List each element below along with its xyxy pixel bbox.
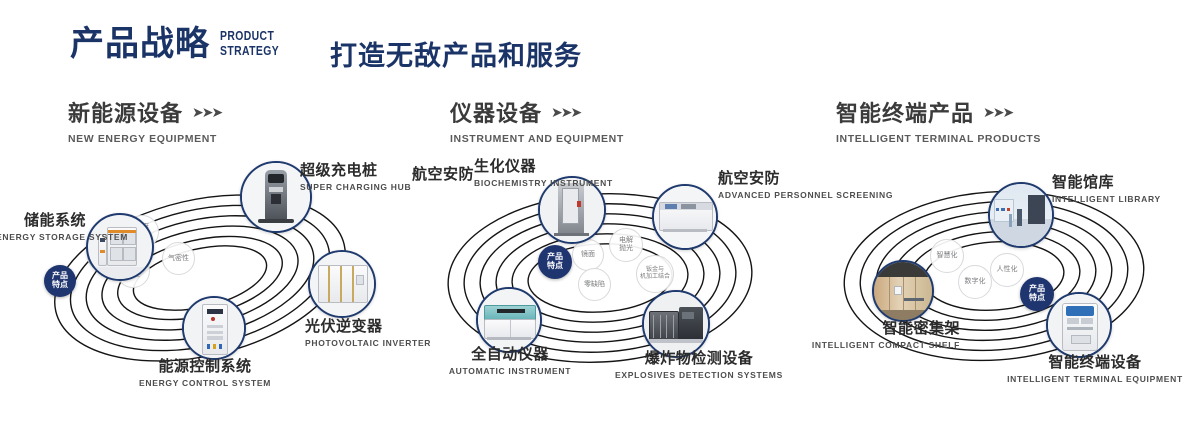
caption-cn: 全自动仪器 <box>430 346 590 364</box>
page-title: 产品战略 PRODUCT STRATEGY <box>70 24 294 64</box>
caption-cn: 爆炸物检测设备 <box>594 350 804 368</box>
feature-label-line2: 抛光 <box>619 245 633 252</box>
feature-bubble-sheetmetal-machining: 钣金与机加工结合 <box>636 255 674 293</box>
feature-label-line1: 钣金与 <box>646 267 664 273</box>
diagram-instrument: 产品特点 镜面 电解抛光 零缺陷 钣金与机加工结合 航 <box>400 150 800 410</box>
feature-bubble-digital: 数字化 <box>958 265 992 299</box>
feature-label: 智慧化 <box>935 252 960 260</box>
caption-en: INTELLIGENT COMPACT SHELF <box>800 340 960 351</box>
chevron-right-icon: ➤➤➤ <box>983 105 1012 119</box>
caption-en: EXPLOSIVES DETECTION SYSTEMS <box>594 370 804 381</box>
page-title-en: PRODUCT STRATEGY <box>220 28 279 58</box>
caption-intelligent-terminal-equipment: 智能终端设备 INTELLIGENT TERMINAL EQUIPMENT <box>990 354 1200 385</box>
caption-intelligent-compact-shelf: 智能密集架 INTELLIGENT COMPACT SHELF <box>800 320 960 351</box>
diagram-intelligent-terminal: 智慧化 数字化 人性化 产品特点 智能馆库 <box>800 150 1200 410</box>
center-bubble-line1: 产品 <box>1029 284 1045 293</box>
caption-energy-control-system: 能源控制系统 ENERGY CONTROL SYSTEM <box>85 358 325 389</box>
caption-cn: 智能密集架 <box>800 320 960 338</box>
feature-label: 镜面 <box>579 251 597 259</box>
node-advanced-personnel-screening[interactable] <box>652 184 718 250</box>
feature-label: 数字化 <box>963 278 988 286</box>
caption-aviation-security-left: 航空安防 <box>396 166 474 184</box>
section-title-en: INSTRUMENT AND EQUIPMENT <box>450 133 624 145</box>
section-title-en: NEW ENERGY EQUIPMENT <box>68 133 221 145</box>
caption-automatic-instrument: 全自动仪器 AUTOMATIC INSTRUMENT <box>430 346 590 377</box>
caption-biochemistry-instrument: 生化仪器 BIOCHEMISTRY INSTRUMENT <box>474 158 586 189</box>
page-title-cn: 产品战略 <box>70 24 210 64</box>
node-automatic-instrument[interactable] <box>476 287 542 353</box>
section-heading-intelligent-terminal: 智能终端产品 ➤➤➤ INTELLIGENT TERMINAL PRODUCTS <box>836 96 1041 145</box>
caption-energy-storage-system: 储能系统 ENERGY STORAGE SYSTEM <box>0 212 86 243</box>
node-photovoltaic-inverter[interactable] <box>308 250 376 318</box>
node-intelligent-library[interactable] <box>988 182 1054 248</box>
photo-explosives-detection <box>644 292 708 356</box>
poster-root: 产品战略 PRODUCT STRATEGY 打造无敌产品和服务 新能源设备 ➤➤… <box>0 0 1200 422</box>
feature-label-line1: 电解 <box>619 237 633 244</box>
caption-cn: 智能馆库 <box>1052 174 1200 192</box>
section-title-cn: 仪器设备 <box>450 96 542 128</box>
center-bubble-line1: 产品 <box>52 271 68 280</box>
diagram-new-energy: 产品特点 户外 防腐防锈 防水防尘 气密性 <box>0 150 400 410</box>
feature-bubble-humanized: 人性化 <box>990 253 1024 287</box>
photo-intelligent-compact-shelf <box>874 262 932 320</box>
center-bubble-product-features: 产品特点 <box>44 265 76 297</box>
center-bubble-line2: 特点 <box>547 261 563 270</box>
photo-energy-control-system <box>184 298 244 358</box>
section-heading-instrument: 仪器设备 ➤➤➤ INSTRUMENT AND EQUIPMENT <box>450 96 624 145</box>
node-energy-storage-system[interactable] <box>86 213 154 281</box>
center-bubble-line2: 特点 <box>52 280 68 289</box>
caption-explosives-detection: 爆炸物检测设备 EXPLOSIVES DETECTION SYSTEMS <box>594 350 804 381</box>
photo-automatic-instrument <box>478 289 540 351</box>
center-bubble-line2: 特点 <box>1029 293 1045 302</box>
node-intelligent-compact-shelf[interactable] <box>872 260 934 322</box>
feature-bubble-zero-defect: 零缺陷 <box>578 268 611 301</box>
center-bubble-line1: 产品 <box>547 252 563 261</box>
feature-label: 人性化 <box>995 266 1020 274</box>
node-intelligent-terminal-equipment[interactable] <box>1046 292 1112 358</box>
caption-en: AUTOMATIC INSTRUMENT <box>430 366 590 377</box>
feature-label: 气密性 <box>166 255 191 263</box>
caption-en: INTELLIGENT LIBRARY <box>1052 194 1200 205</box>
photo-energy-storage-system <box>88 215 152 279</box>
photo-photovoltaic-inverter <box>310 252 374 316</box>
photo-advanced-personnel-screening <box>654 186 716 248</box>
section-title-cn: 智能终端产品 <box>836 96 974 128</box>
chevron-right-icon: ➤➤➤ <box>192 105 221 119</box>
feature-label-line2: 机加工结合 <box>640 274 670 280</box>
section-title-cn: 新能源设备 <box>68 96 183 128</box>
page-title-en-line2: STRATEGY <box>220 43 279 58</box>
feature-bubble-mirror-finish: 镜面 <box>572 239 604 271</box>
caption-cn: 智能终端设备 <box>990 354 1200 372</box>
photo-intelligent-library <box>990 184 1052 246</box>
section-title-en: INTELLIGENT TERMINAL PRODUCTS <box>836 133 1041 145</box>
caption-en: INTELLIGENT TERMINAL EQUIPMENT <box>990 374 1200 385</box>
page-title-en-line1: PRODUCT <box>220 28 279 43</box>
caption-cn: 储能系统 <box>0 212 86 230</box>
photo-intelligent-terminal-equipment <box>1048 294 1110 356</box>
feature-label: 零缺陷 <box>582 281 607 289</box>
center-bubble-product-features: 产品特点 <box>538 245 572 279</box>
caption-en: ENERGY CONTROL SYSTEM <box>85 378 325 389</box>
feature-bubble-electropolishing: 电解抛光 <box>609 228 643 262</box>
caption-cn: 能源控制系统 <box>85 358 325 376</box>
caption-en: ENERGY STORAGE SYSTEM <box>0 232 86 243</box>
page-subtitle: 打造无敌产品和服务 <box>330 34 582 73</box>
feature-bubble-airtightness: 气密性 <box>162 242 195 275</box>
section-heading-new-energy: 新能源设备 ➤➤➤ NEW ENERGY EQUIPMENT <box>68 96 221 145</box>
caption-en: BIOCHEMISTRY INSTRUMENT <box>474 178 586 189</box>
node-explosives-detection[interactable] <box>642 290 710 358</box>
caption-cn: 航空安防 <box>396 166 474 184</box>
node-energy-control-system[interactable] <box>182 296 246 360</box>
caption-intelligent-library: 智能馆库 INTELLIGENT LIBRARY <box>1052 174 1200 205</box>
caption-cn: 生化仪器 <box>474 158 586 176</box>
chevron-right-icon: ➤➤➤ <box>551 105 580 119</box>
feature-bubble-intelligent: 智慧化 <box>930 239 964 273</box>
